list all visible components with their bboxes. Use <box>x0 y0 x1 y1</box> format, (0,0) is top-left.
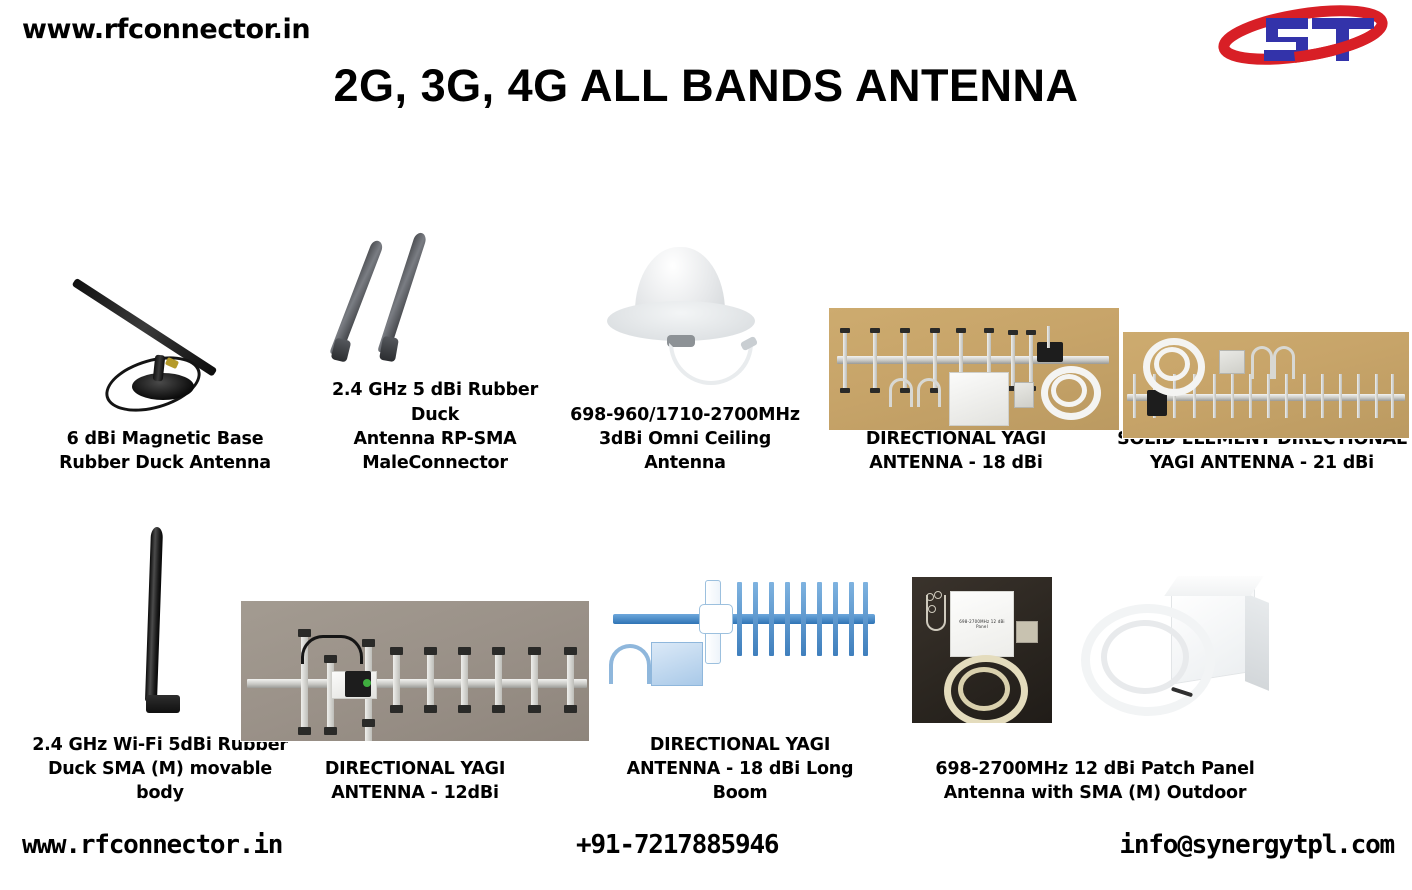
catalog-page: www.rfconnector.in 2G, 3G, 4G ALL BANDS … <box>0 0 1412 890</box>
product-caption-yagi-18dbi: DIRECTIONAL YAGI ANTENNA - 18 dBi <box>816 427 1096 475</box>
product-image-yagi-long-boom <box>590 521 890 721</box>
product-card-yagi-18dbi: DIRECTIONAL YAGI ANTENNA - 18 dBi <box>800 253 1112 475</box>
product-caption-rubber-duck-rpsma: 2.4 GHz 5 dBi Rubber Duck Antenna RP-SMA… <box>307 378 563 475</box>
product-card-yagi-18dbi-long-boom: DIRECTIONAL YAGI ANTENNA - 18 dBi Long B… <box>590 521 890 805</box>
product-image-ceiling-dome <box>580 229 790 389</box>
product-caption-patch-panel-12dbi: 698-2700MHz 12 dBi Patch Panel Antenna w… <box>890 757 1300 805</box>
product-caption-magnetic-base: 6 dBi Magnetic Base Rubber Duck Antenna <box>40 427 290 475</box>
product-image-rubber-duck-pair <box>310 204 560 364</box>
footer-phone[interactable]: +91-7217885946 <box>576 830 778 860</box>
product-caption-yagi-18dbi-long-boom: DIRECTIONAL YAGI ANTENNA - 18 dBi Long B… <box>600 733 880 805</box>
product-image-yagi-12dbi <box>240 545 590 745</box>
patch-panel-photo-label: 698-2700MHz 12 dBi Panel <box>954 619 1010 629</box>
footer-email[interactable]: info@synergytpl.com <box>1119 830 1394 860</box>
product-image-patch-panel: 698-2700MHz 12 dBi Panel <box>890 545 1300 745</box>
product-card-patch-panel-12dbi: 698-2700MHz 12 dBi Panel <box>890 545 1300 805</box>
product-card-yagi-12dbi: DIRECTIONAL YAGI ANTENNA - 12dBi <box>240 545 590 805</box>
product-card-yagi-21dbi-solid: SOLID ELEMENT DIRECTIONAL YAGI ANTENNA -… <box>1112 253 1412 475</box>
product-image-yagi-21dbi <box>1112 253 1412 413</box>
product-row-1: 6 dBi Magnetic Base Rubber Duck Antenna … <box>0 205 1412 475</box>
page-title: 2G, 3G, 4G ALL BANDS ANTENNA <box>0 60 1412 112</box>
product-card-magnetic-base-rubber-duck: 6 dBi Magnetic Base Rubber Duck Antenna <box>30 253 300 475</box>
product-image-magnetic-base <box>40 253 290 413</box>
product-card-omni-ceiling: 698-960/1710-2700MHz 3dBi Omni Ceiling A… <box>570 229 800 475</box>
product-row-2: 2.4 GHz Wi-Fi 5dBi Rubber Duck SMA (M) m… <box>0 475 1412 805</box>
product-caption-omni-ceiling: 698-960/1710-2700MHz 3dBi Omni Ceiling A… <box>570 403 800 475</box>
header-website-url: www.rfconnector.in <box>22 14 310 45</box>
product-caption-yagi-12dbi: DIRECTIONAL YAGI ANTENNA - 12dBi <box>265 757 565 805</box>
footer: www.rfconnector.in +91-7217885946 info@s… <box>0 818 1412 878</box>
footer-website[interactable]: www.rfconnector.in <box>22 830 282 860</box>
product-card-rubber-duck-rpsma: 2.4 GHz 5 dBi Rubber Duck Antenna RP-SMA… <box>300 204 570 475</box>
product-image-yagi-18dbi <box>800 253 1112 413</box>
